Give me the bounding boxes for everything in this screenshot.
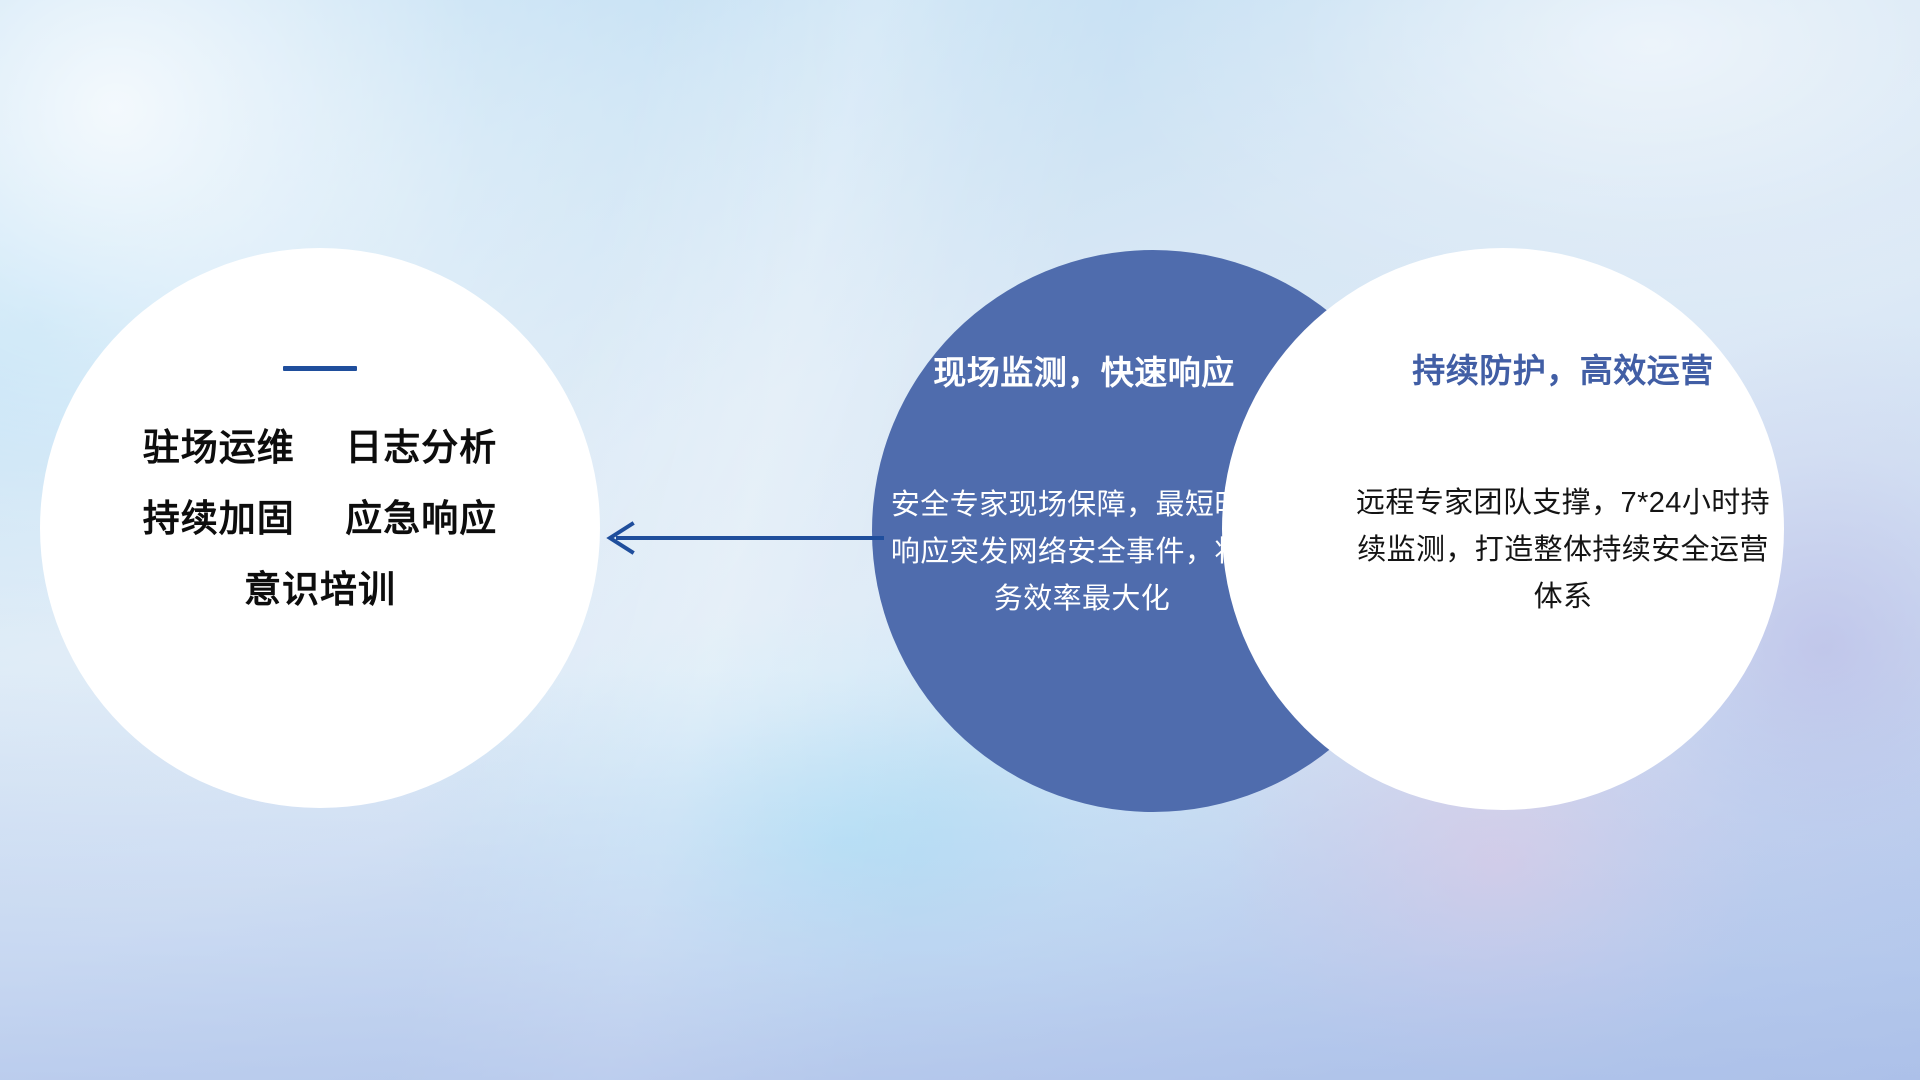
capability-label: 日志分析 <box>345 427 497 468</box>
slide-canvas: 驻场运维 日志分析 持续加固 应急响应 意识培训 现场监测，快速响应 安全专家现… <box>0 0 1920 1080</box>
flow-arrow-left-icon <box>596 512 886 564</box>
operations-capability-content: 驻场运维 日志分析 持续加固 应急响应 意识培训 <box>40 248 600 808</box>
capability-row: 持续加固 应急响应 <box>143 500 498 539</box>
continuous-protection-circle[interactable] <box>1222 248 1784 810</box>
capability-row: 驻场运维 日志分析 <box>143 429 498 468</box>
capability-label: 意识培训 <box>244 569 396 610</box>
flow-arrow-left <box>596 512 886 564</box>
capability-label: 持续加固 <box>143 498 295 539</box>
capability-label: 驻场运维 <box>143 427 295 468</box>
title-divider-rule <box>283 366 357 371</box>
capability-row: 意识培训 <box>244 571 396 610</box>
capability-label: 应急响应 <box>345 498 497 539</box>
